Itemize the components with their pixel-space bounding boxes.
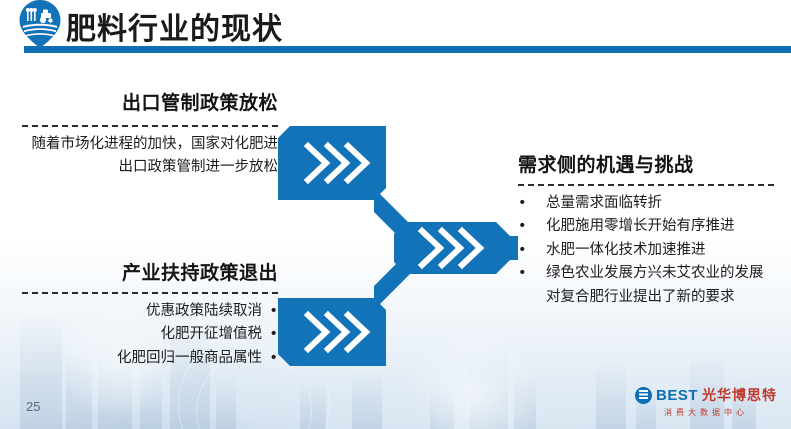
divider-dashed	[22, 125, 278, 127]
bullet-dot: •	[518, 239, 546, 262]
page-title: 肥料行业的现状	[66, 4, 283, 48]
list-item: •绿色农业发展方兴未艾农业的发展对复合肥行业提出了新的要求	[518, 262, 774, 309]
bullet-dot: •	[262, 300, 278, 323]
bullet-dot: •	[518, 262, 546, 285]
brand-subtitle: 消费大数据中心	[635, 407, 777, 418]
divider-dashed	[518, 184, 774, 186]
list-item: •水肥一体化技术加速推进	[518, 239, 774, 262]
bullet-dot: •	[518, 192, 546, 215]
brand-name: BEST	[656, 387, 698, 404]
brand-name-cn: 光华博思特	[702, 385, 777, 405]
bullet-dot: •	[262, 347, 278, 370]
demand-bullet-list: •总量需求面临转折 •化肥施用零增长开始有序推进 •水肥一体化技术加速推进 •绿…	[518, 192, 774, 309]
header-rule	[24, 46, 791, 53]
subsidy-bullet-list: 优惠政策陆续取消 • 化肥开征增值税 • 化肥回归一般商品属性 •	[22, 300, 278, 370]
bullet-dot: •	[262, 323, 278, 346]
export-heading: 出口管制政策放松	[22, 88, 278, 115]
list-item: 化肥开征增值税 •	[22, 323, 278, 346]
list-item: 化肥回归一般商品属性 •	[22, 347, 278, 370]
list-item: 优惠政策陆续取消 •	[22, 300, 278, 323]
block-subsidy-policy: 产业扶持政策退出 优惠政策陆续取消 • 化肥开征增值税 • 化肥回归一般商品属性…	[22, 258, 278, 370]
export-paragraph: 随着市场化进程的加快，国家对化肥进出口政策管制进一步放松	[22, 133, 278, 180]
subsidy-heading: 产业扶持政策退出	[22, 258, 278, 285]
demand-heading: 需求侧的机遇与挑战	[518, 150, 774, 177]
brand-logo: BEST 光华博思特 消费大数据中心	[635, 385, 777, 418]
slide: 肥料行业的现状 出口管制政策放松 随着市场化进程的加快，国家对化肥进出口政策管制…	[0, 0, 791, 429]
farm-pin-icon	[16, 0, 64, 49]
slide-header: 肥料行业的现状	[0, 0, 791, 52]
divider-dashed	[22, 292, 278, 294]
converging-arrows-diagram	[278, 126, 518, 366]
brand-row: BEST 光华博思特	[635, 385, 777, 405]
page-number: 25	[26, 399, 40, 414]
block-export-policy: 出口管制政策放松 随着市场化进程的加快，国家对化肥进出口政策管制进一步放松	[22, 88, 278, 180]
block-demand-side: 需求侧的机遇与挑战 •总量需求面临转折 •化肥施用零增长开始有序推进 •水肥一体…	[518, 150, 774, 309]
best-mark-icon	[635, 387, 652, 404]
list-item: •化肥施用零增长开始有序推进	[518, 215, 774, 238]
list-item: •总量需求面临转折	[518, 192, 774, 215]
bullet-dot: •	[518, 215, 546, 238]
